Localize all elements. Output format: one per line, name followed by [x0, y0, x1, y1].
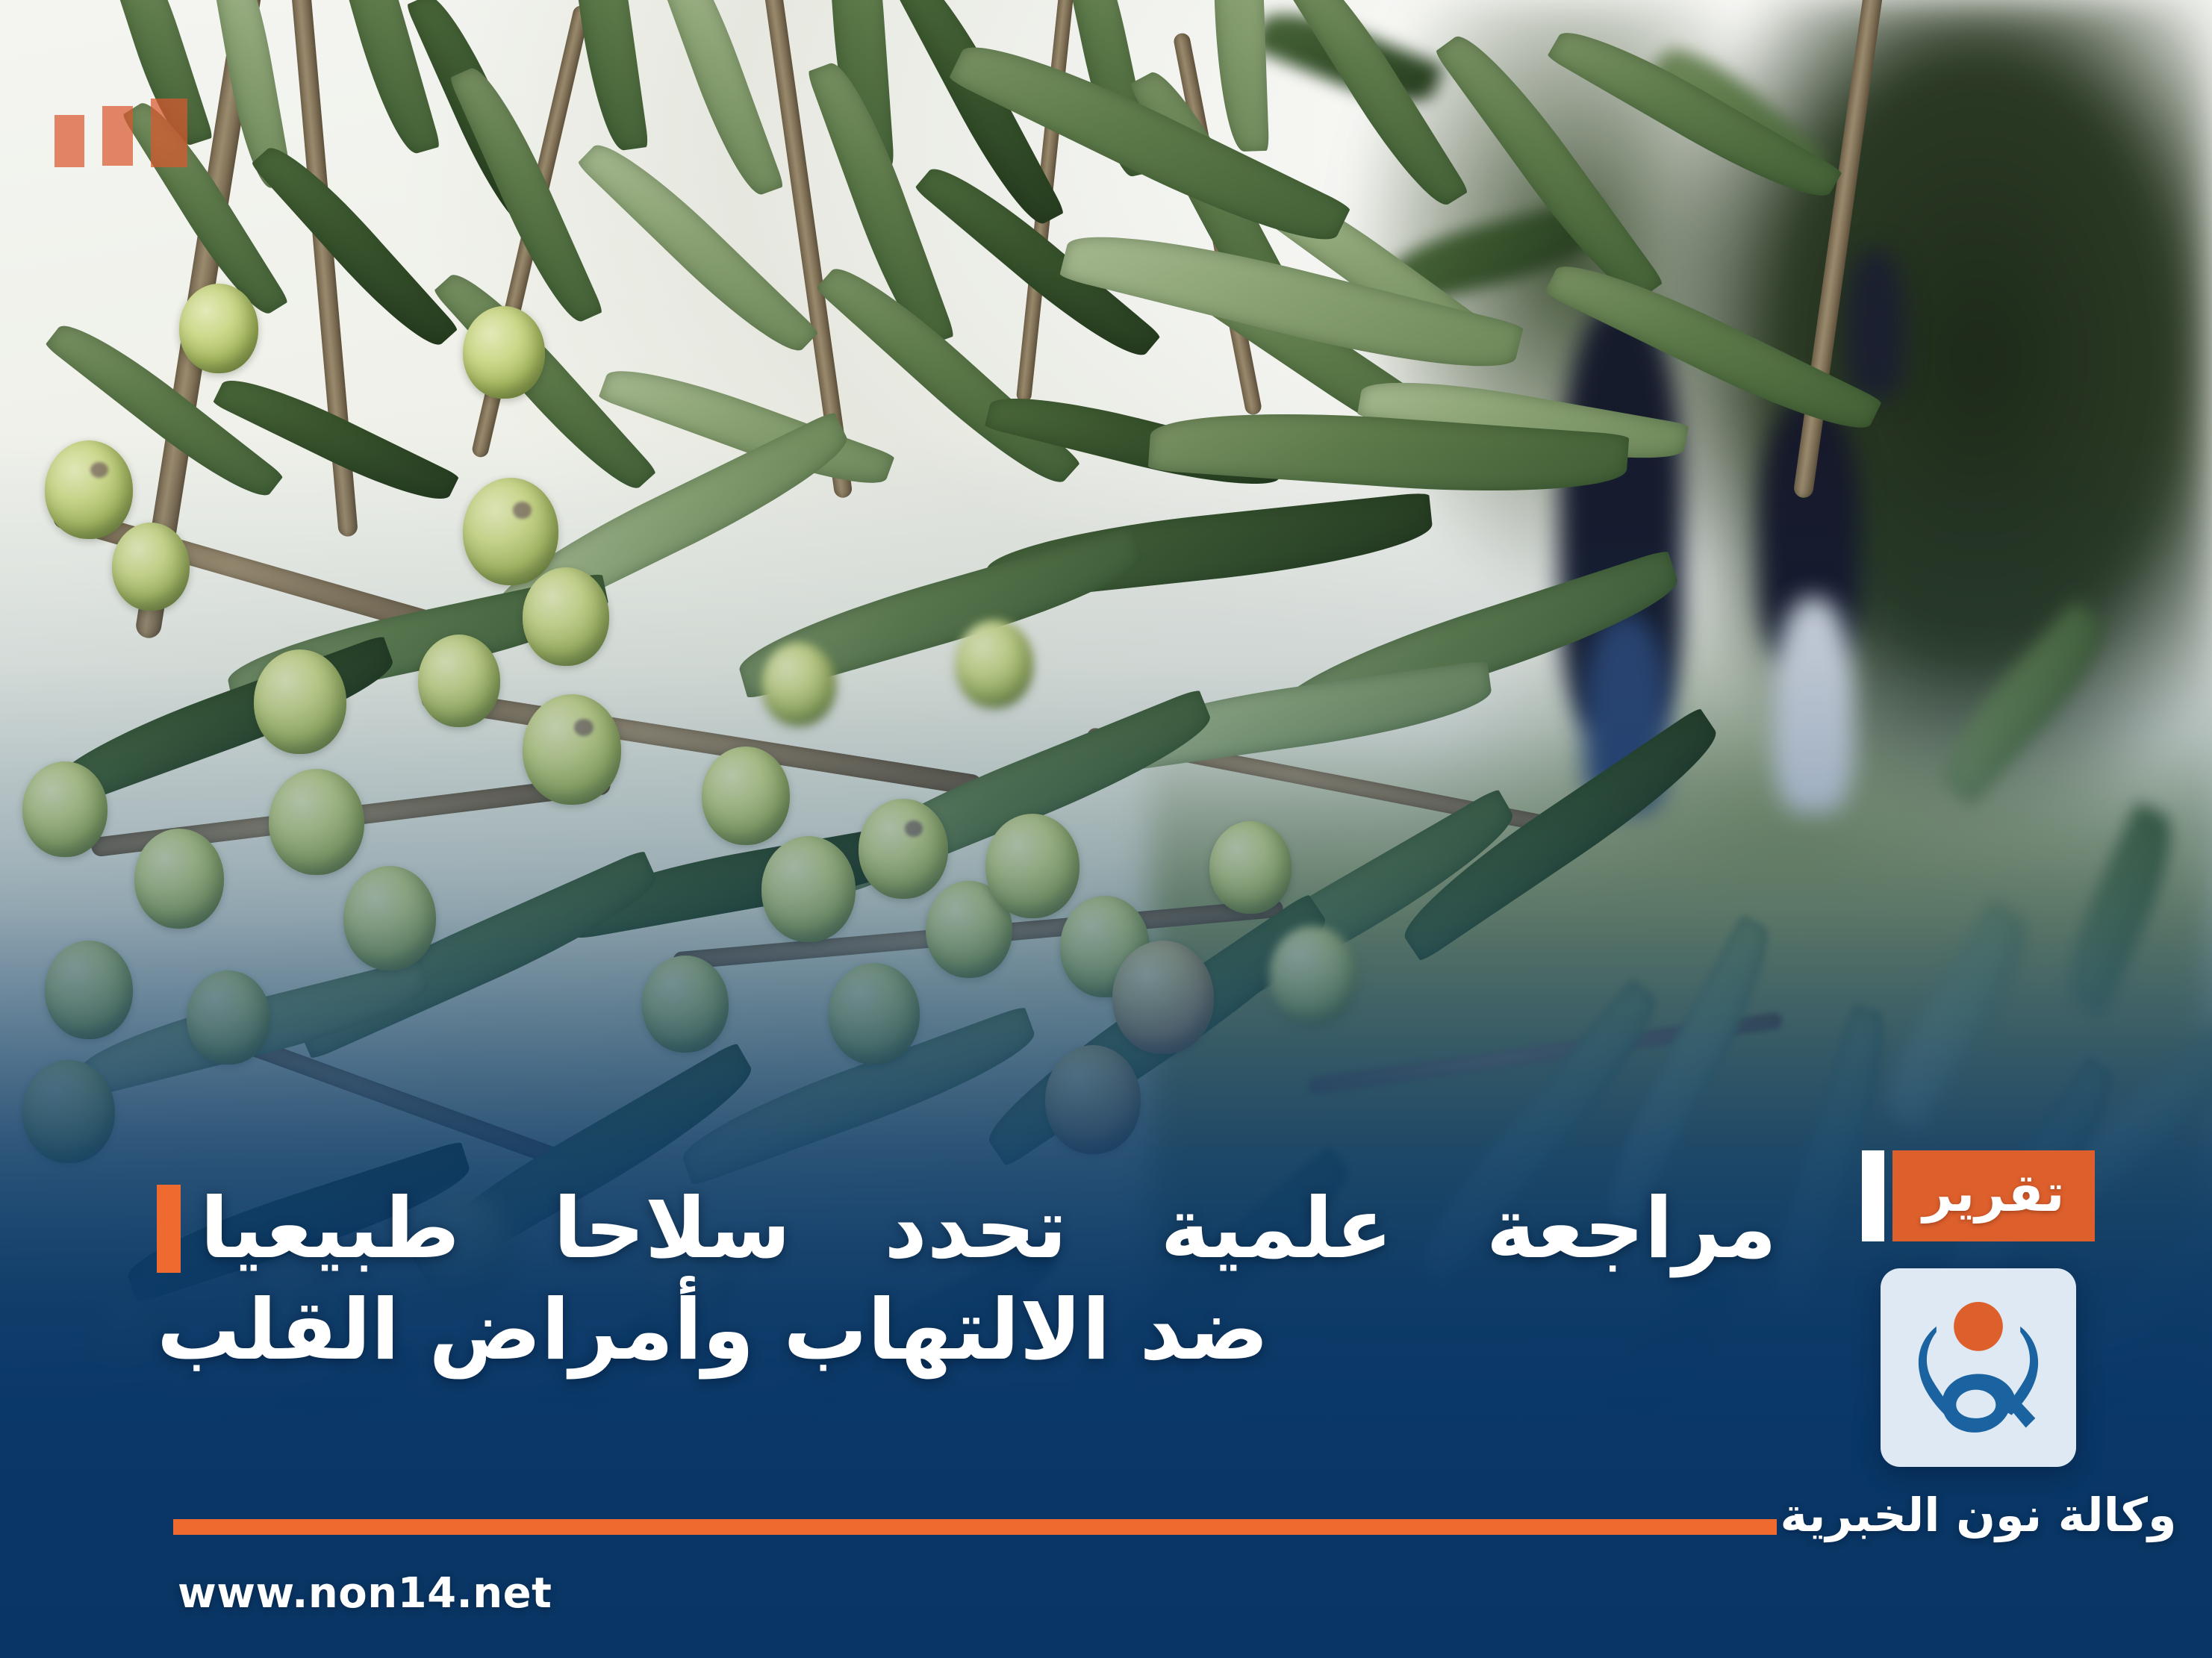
website-url[interactable]: www.non14.net — [178, 1569, 552, 1618]
bar-3 — [54, 115, 84, 167]
three-bars-mark — [54, 99, 187, 167]
bar-2 — [102, 106, 133, 166]
noon-agency-logo[interactable] — [1881, 1268, 2076, 1467]
circle-head-icon — [1954, 1302, 2003, 1351]
headline-accent-bar-icon — [157, 1185, 181, 1273]
report-badge: تقرير — [1862, 1150, 2094, 1241]
news-card: مراجعة علمية تحدد سلاحا طبيعيا ضد الالته… — [0, 0, 2212, 1658]
open-arms-figure-icon — [1942, 1374, 2035, 1432]
headline-line-2: ضد الالتهاب وأمراض القلب — [157, 1280, 1777, 1382]
brand-rail: تقرير وكالة نون الخبرية — [1803, 1150, 2154, 1539]
report-badge-label: تقرير — [1892, 1150, 2094, 1241]
footer-divider — [173, 1519, 1777, 1535]
noon-agency-logo-icon — [1899, 1288, 2057, 1447]
bar-1 — [151, 99, 187, 167]
headline-line-1: مراجعة علمية تحدد سلاحا طبيعيا — [200, 1178, 1777, 1280]
badge-accent-bar-icon — [1862, 1150, 1884, 1241]
agency-name: وكالة نون الخبرية — [1780, 1492, 2177, 1539]
headline-block: مراجعة علمية تحدد سلاحا طبيعيا ضد الالته… — [157, 1178, 1777, 1382]
headline-line-1-row: مراجعة علمية تحدد سلاحا طبيعيا — [157, 1178, 1777, 1280]
